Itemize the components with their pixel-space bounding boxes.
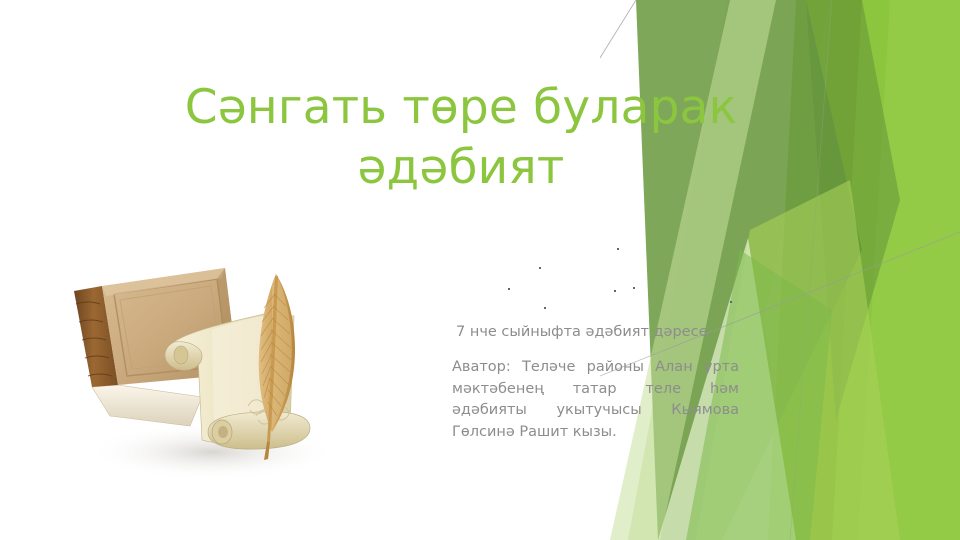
decor-shape-dark-overlay: [806, 0, 900, 420]
artifact-dot: [614, 290, 616, 292]
book-scroll-quill-illustration: [62, 256, 362, 491]
artifact-dot: [730, 301, 732, 303]
artifact-dot: [539, 267, 541, 269]
decor-shape-bright-right-2: [858, 0, 960, 540]
scroll-top-curl-hole: [174, 346, 188, 364]
slide-body-container: 7 нче сыйныфта әдәбият дәресе. Аватор: Т…: [452, 322, 739, 443]
artifact-dot: [544, 307, 546, 309]
presentation-slide: Сәнгать төре буларак әдәбият 7 нче сыйны…: [0, 0, 960, 540]
artifact-dot: [633, 287, 635, 289]
body-paragraph-lesson: 7 нче сыйныфта әдәбият дәресе.: [452, 322, 739, 343]
book-pages: [92, 385, 202, 426]
artifact-dot: [508, 288, 510, 290]
slide-title-container: Сәнгать төре буларак әдәбият: [96, 78, 826, 197]
slide-title: Сәнгать төре буларак әдәбият: [96, 78, 826, 197]
scroll-bottom-roll-hole-inner: [218, 426, 228, 438]
artifact-dot: [617, 248, 619, 250]
body-paragraph-author: Аватор: Теләче районы Алан урта мәктәбен…: [452, 357, 739, 443]
